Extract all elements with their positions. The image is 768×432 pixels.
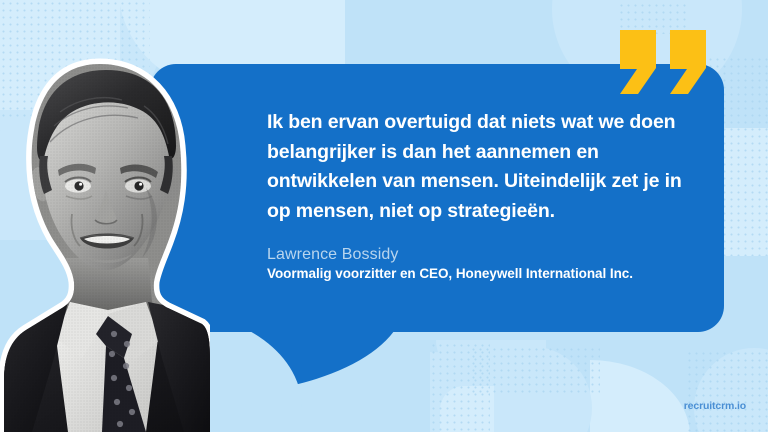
author-role: Voormalig voorzitter en CEO, Honeywell I… xyxy=(267,266,717,281)
author-portrait xyxy=(0,58,210,432)
quote-card: Ik ben ervan overtuigd dat niets wat we … xyxy=(150,64,724,332)
quote-text: Ik ben ervan overtuigd dat niets wat we … xyxy=(267,108,707,226)
deco-dots-bottom-mid xyxy=(470,346,600,396)
quote-card-graphic: Ik ben ervan overtuigd dat niets wat we … xyxy=(0,0,768,432)
attribution: Lawrence Bossidy Voormalig voorzitter en… xyxy=(267,246,717,281)
deco-quarter-bottom-right xyxy=(590,360,690,432)
author-name: Lawrence Bossidy xyxy=(267,246,717,264)
recruitcrm-logo[interactable]: recruitcrm.io xyxy=(684,400,746,412)
double-closing-quote-icon xyxy=(620,30,712,94)
deco-dots-bottom-right xyxy=(686,350,768,432)
